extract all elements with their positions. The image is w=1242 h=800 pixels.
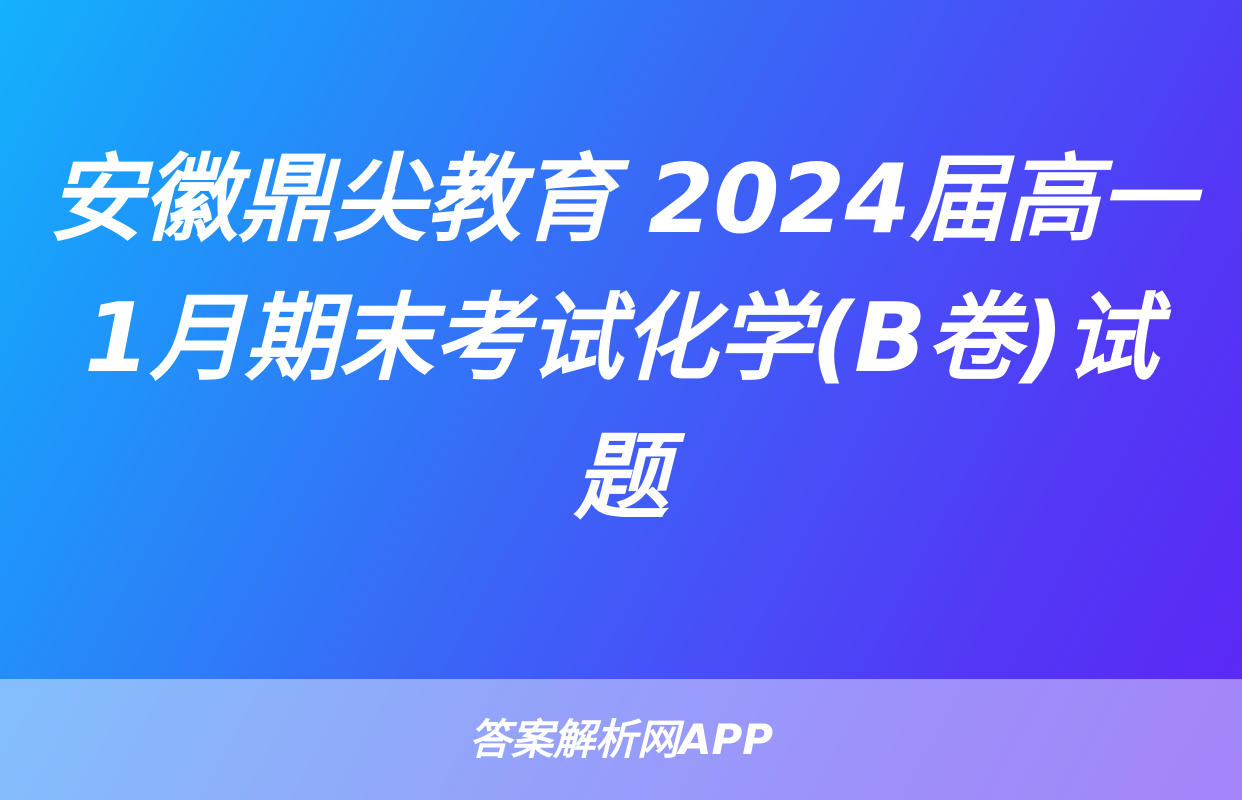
title-area: 安徽鼎尖教育 2024届高一1月期末考试化学(B卷)试题 — [0, 0, 1242, 679]
page-title: 安徽鼎尖教育 2024届高一1月期末考试化学(B卷)试题 — [46, 131, 1196, 548]
footer-area: 答案解析网APP — [0, 679, 1242, 800]
poster-canvas: 安徽鼎尖教育 2024届高一1月期末考试化学(B卷)试题 答案解析网APP — [0, 0, 1242, 800]
app-brand-label: 答案解析网APP — [469, 719, 773, 761]
